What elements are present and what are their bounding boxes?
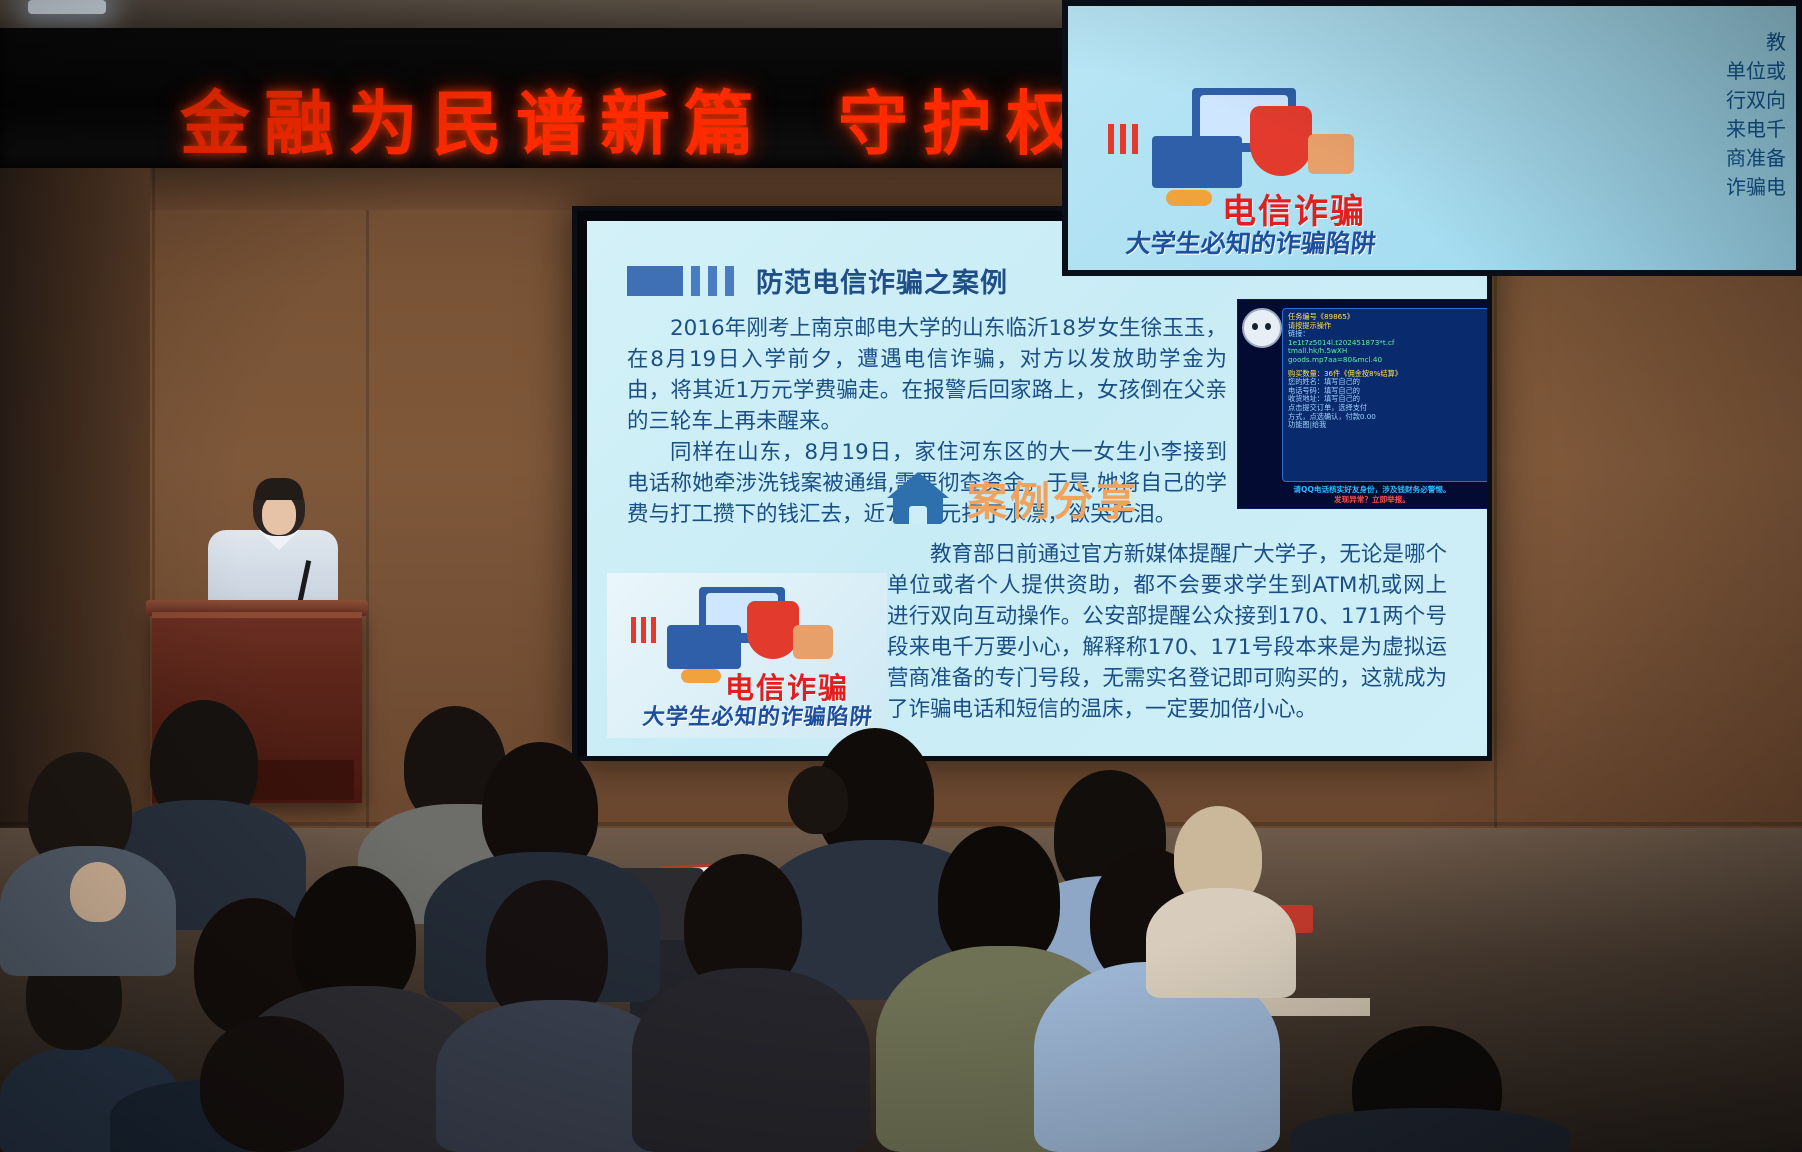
poster2-hand-icon bbox=[1308, 134, 1354, 174]
secondary-monitor-slide: 教 单位或 行双向 来电千 商准备 诈骗电 电信诈骗 大学生必知的诈骗陷阱 bbox=[1068, 6, 1796, 270]
mon2-line-1: 单位或 bbox=[1486, 57, 1786, 86]
poster-shield-icon bbox=[747, 601, 799, 659]
projection-screen: 防范电信诈骗之案例 2016年刚考上南京邮电大学的山东临沂18岁女生徐玉玉，在8… bbox=[572, 206, 1492, 761]
speaker-face bbox=[262, 495, 296, 535]
house-icon bbox=[887, 472, 949, 524]
poster2-laptop-icon bbox=[1152, 136, 1242, 188]
mon2-line-0: 教 bbox=[1486, 28, 1786, 57]
ceiling-light-1 bbox=[28, 0, 106, 14]
poster-hand-icon bbox=[793, 625, 833, 659]
audience-shoulders-12 bbox=[632, 968, 870, 1152]
chat-warning-footer: 请QQ电话核实好友身份，涉及钱财务必警惕。 发现异常？立即举报。 bbox=[1244, 485, 1487, 504]
audience-head-18 bbox=[70, 862, 126, 922]
mon2-line-3: 来电千 bbox=[1486, 115, 1786, 144]
left-wall-shadow bbox=[0, 168, 150, 828]
poster-dots bbox=[631, 617, 657, 643]
chat-bubble: 任务编号《89865》 请按提示操作 链接： 1e1t7z5014l.t2024… bbox=[1282, 308, 1487, 482]
lecture-hall-photo: 金融为民谱新篇守护权 防范电信诈骗之案例 2016年刚考上南京邮电大学的山东临沂… bbox=[0, 0, 1802, 1152]
poster2-key-icon bbox=[1166, 190, 1212, 206]
slide-title: 防范电信诈骗之案例 bbox=[756, 261, 1008, 300]
telecom-fraud-poster-secondary: 电信诈骗 大学生必知的诈骗陷阱 bbox=[1082, 80, 1432, 270]
led-banner-right: 守护权 bbox=[838, 83, 1090, 165]
secondary-monitor-text: 教 单位或 行双向 来电千 商准备 诈骗电 bbox=[1486, 28, 1786, 202]
case-share-heading-row: 案例分享 bbox=[887, 469, 1139, 527]
chat-line-6: goods.mp7aa=80&mcl.40 bbox=[1288, 356, 1487, 365]
qq-chat-screenshot: 任务编号《89865》 请按提示操作 链接： 1e1t7z5014l.t2024… bbox=[1237, 299, 1487, 509]
slide-paragraph-group-2: 教育部日前通过官方新媒体提醒广大学子，无论是哪个单位或者个人提供资助，都不会要求… bbox=[887, 539, 1447, 725]
case-share-heading: 案例分享 bbox=[967, 469, 1139, 527]
title-bar-icon-1 bbox=[691, 266, 700, 296]
poster-laptop-icon bbox=[667, 625, 741, 669]
audience-shoulders-14 bbox=[1146, 888, 1296, 998]
audience-shoulders-15 bbox=[1290, 1108, 1570, 1152]
audience-head-17 bbox=[200, 1016, 344, 1152]
led-banner-left: 金融为民谱新篇 bbox=[180, 83, 768, 165]
slide-paragraph-1: 2016年刚考上南京邮电大学的山东临沂18岁女生徐玉玉，在8月19日入学前夕，遭… bbox=[627, 313, 1227, 437]
poster-key-icon bbox=[681, 669, 721, 683]
mon2-line-2: 行双向 bbox=[1486, 86, 1786, 115]
wall-seam-2 bbox=[366, 210, 369, 828]
poster2-shield-icon bbox=[1250, 106, 1312, 176]
chat-line-13: 功能图|给我 bbox=[1288, 421, 1487, 430]
wall-seam-3 bbox=[1494, 210, 1497, 828]
chat-line-2: 请按提示操作 bbox=[1288, 322, 1487, 331]
chat-avatar bbox=[1242, 308, 1282, 348]
secondary-monitor: 教 单位或 行双向 来电千 商准备 诈骗电 电信诈骗 大学生必知的诈骗陷阱 bbox=[1062, 0, 1802, 276]
poster2-subtitle: 大学生必知的诈骗陷阱 bbox=[1124, 224, 1378, 260]
mon2-line-4: 商准备 bbox=[1486, 144, 1786, 173]
presentation-slide: 防范电信诈骗之案例 2016年刚考上南京邮电大学的山东临沂18岁女生徐玉玉，在8… bbox=[587, 221, 1487, 756]
mon2-line-5: 诈骗电 bbox=[1486, 173, 1786, 202]
audience-head-10 bbox=[788, 766, 848, 834]
chat-warning-1: 请QQ电话核实好友身份，涉及钱财务必警惕。 bbox=[1293, 485, 1450, 494]
poster2-dots bbox=[1108, 124, 1138, 154]
title-bar-icon-2 bbox=[708, 266, 717, 296]
slide-paragraph-3: 教育部日前通过官方新媒体提醒广大学子，无论是哪个单位或者个人提供资助，都不会要求… bbox=[887, 539, 1447, 725]
speaker-hair bbox=[255, 478, 303, 500]
poster-subtitle-main: 大学生必知的诈骗陷阱 bbox=[641, 699, 874, 731]
chat-warning-2: 发现异常？立即举报。 bbox=[1244, 495, 1487, 505]
title-bar-icon-3 bbox=[725, 266, 734, 296]
slide-title-row: 防范电信诈骗之案例 bbox=[627, 261, 1008, 300]
title-block-icon bbox=[627, 266, 683, 296]
telecom-fraud-poster-main: 电信诈骗 大学生必知的诈骗陷阱 bbox=[607, 573, 887, 738]
